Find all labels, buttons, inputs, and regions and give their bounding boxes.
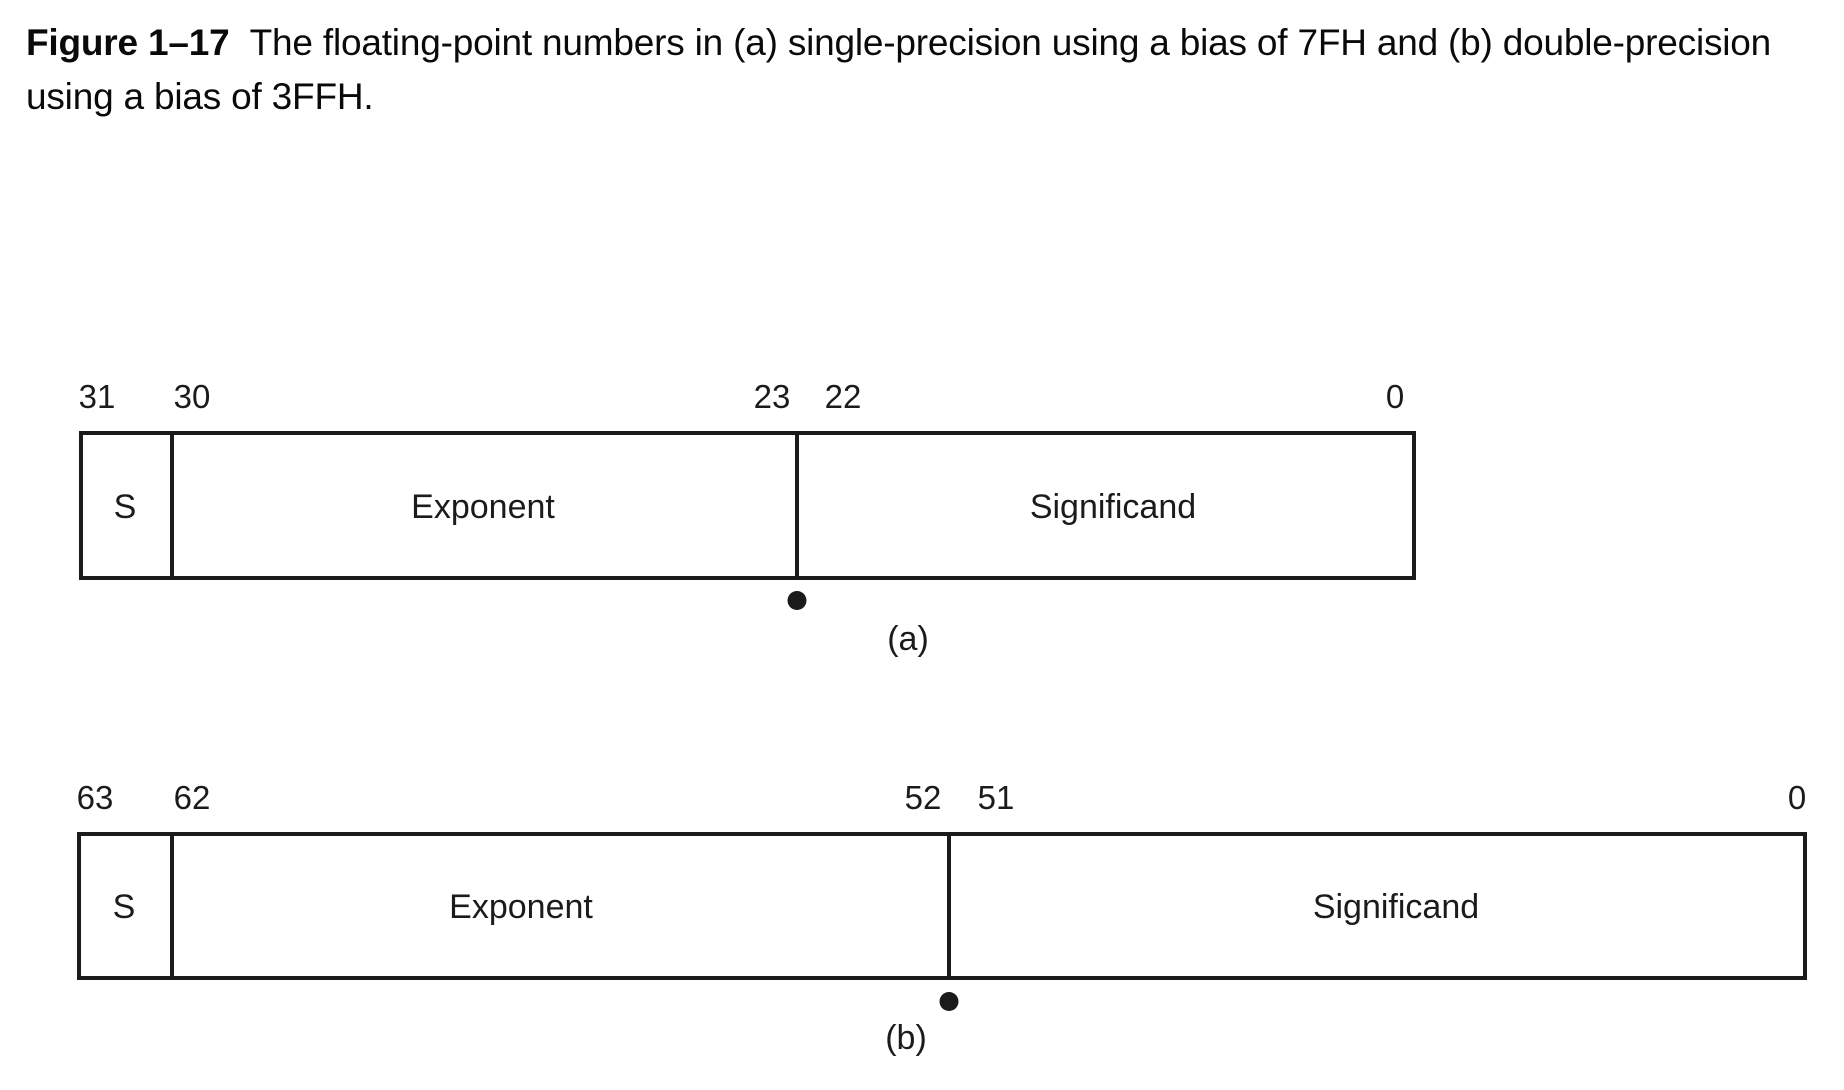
field-label-significand-b: Significand xyxy=(1313,888,1479,927)
figure-number: Figure 1–17 xyxy=(26,22,229,63)
field-divider-exponent-significand-b xyxy=(947,832,951,980)
field-divider-sign-exponent-b xyxy=(170,832,174,980)
bit-number-63: 63 xyxy=(77,779,114,817)
bit-number-62: 62 xyxy=(174,779,211,817)
bit-number-31: 31 xyxy=(79,378,116,416)
field-label-exponent-a: Exponent xyxy=(411,488,555,527)
field-label-sign-b: S xyxy=(113,888,136,927)
field-divider-sign-exponent-a xyxy=(170,431,174,580)
bit-number-22: 22 xyxy=(825,378,862,416)
field-label-sign-a: S xyxy=(114,488,137,527)
bit-number-52: 52 xyxy=(905,779,942,817)
field-divider-exponent-significand-a xyxy=(795,431,799,580)
bit-number-51: 51 xyxy=(978,779,1015,817)
figure-caption-text: The floating-point numbers in (a) single… xyxy=(26,22,1771,117)
binary-point-dot-a xyxy=(788,591,807,610)
bitfield-box-a xyxy=(79,431,1416,580)
bit-number-30: 30 xyxy=(174,378,211,416)
figure-caption: Figure 1–17 The floating-point numbers i… xyxy=(26,16,1826,124)
field-label-significand-a: Significand xyxy=(1030,488,1196,527)
bit-number-0-b: 0 xyxy=(1788,779,1806,817)
subfigure-label-a: (a) xyxy=(887,620,929,659)
subfigure-label-b: (b) xyxy=(885,1019,927,1058)
bitfield-box-b xyxy=(77,832,1807,980)
field-label-exponent-b: Exponent xyxy=(449,888,593,927)
bit-number-23: 23 xyxy=(754,378,791,416)
binary-point-dot-b xyxy=(940,992,959,1011)
bit-number-0-a: 0 xyxy=(1386,378,1404,416)
